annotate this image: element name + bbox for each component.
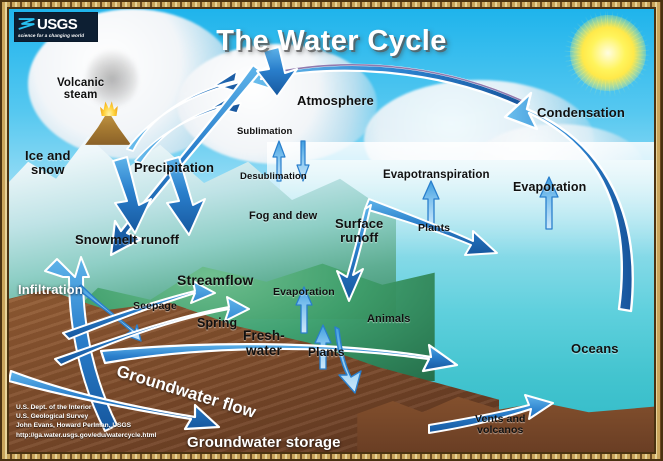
label-sublimation: Sublimation (237, 127, 292, 137)
label-volcanic-steam: Volcanic steam (57, 77, 104, 102)
label-streamflow: Streamflow (177, 273, 253, 288)
label-evaporation-freshwater: Evaporation (273, 287, 335, 298)
label-oceans: Oceans (571, 342, 619, 356)
label-plants-center: Plants (308, 346, 345, 359)
label-freshwater: Fresh- water (243, 329, 285, 358)
label-atmosphere: Atmosphere (297, 94, 374, 108)
label-groundwater-storage: Groundwater storage (187, 435, 341, 451)
label-animals: Animals (367, 314, 411, 326)
credits-block: U.S. Dept. of the Interior U.S. Geologic… (16, 403, 156, 440)
water-cycle-diagram: USGS science for a changing world The Wa… (0, 0, 663, 461)
decorative-frame: USGS science for a changing world The Wa… (0, 0, 663, 461)
label-infiltration: Infiltration (18, 283, 83, 297)
label-spring: Spring (197, 317, 237, 331)
label-plants-right: Plants (418, 223, 450, 234)
label-evaporation-ocean: Evaporation (513, 181, 586, 195)
label-ice-and-snow: Ice and snow (25, 149, 71, 177)
label-vents-and-volcanos: Vents and volcanos (475, 414, 526, 437)
label-seepage: Seepage (133, 301, 177, 312)
label-condensation: Condensation (537, 106, 625, 120)
label-surface-runoff: Surface runoff (335, 217, 383, 245)
diagram-canvas: USGS science for a changing world The Wa… (9, 9, 654, 452)
label-desublimation: Desublimation (240, 172, 307, 182)
label-precipitation: Precipitation (134, 161, 214, 175)
label-evapotranspiration: Evapotranspiration (383, 169, 490, 181)
label-fog-and-dew: Fog and dew (249, 211, 317, 223)
label-snowmelt-runoff: Snowmelt runoff (75, 233, 179, 247)
page-title: The Water Cycle (9, 25, 654, 58)
